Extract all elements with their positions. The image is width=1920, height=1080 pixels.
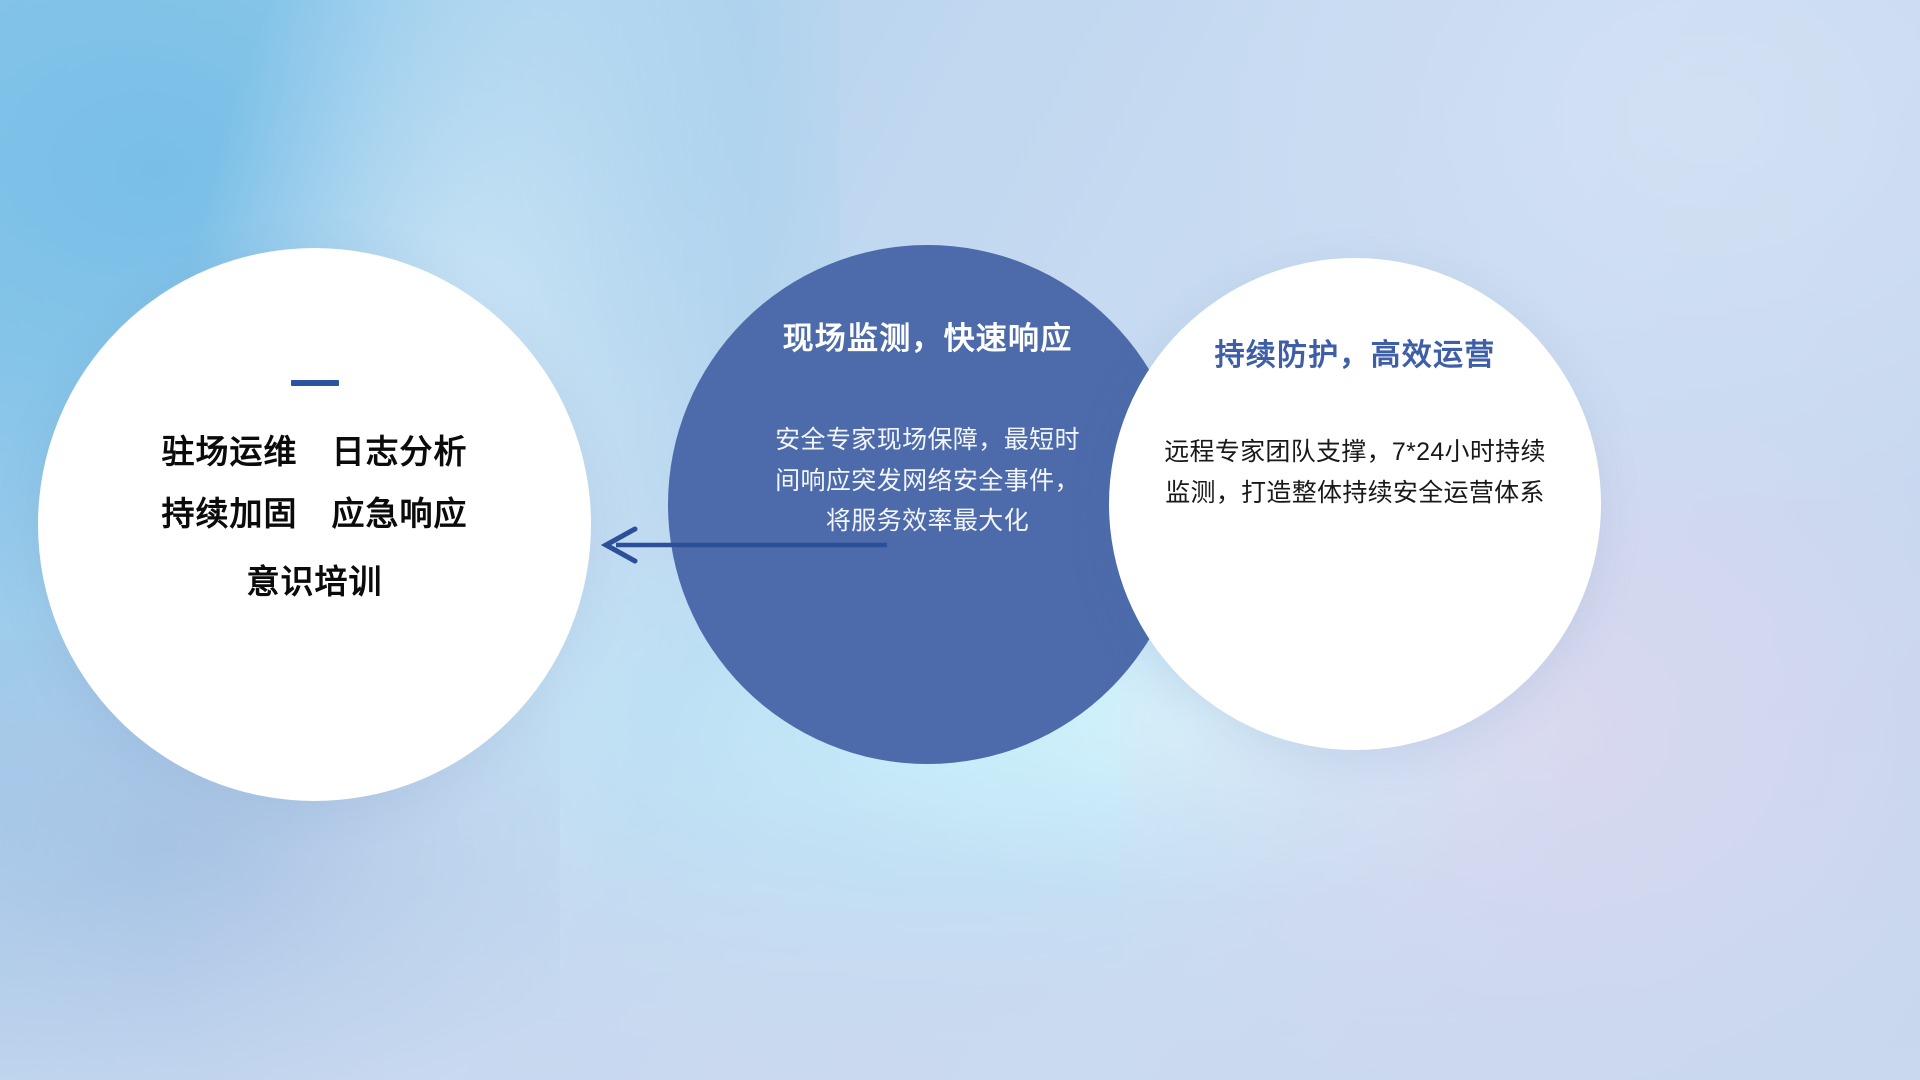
keyword-item[interactable]: 应急响应 (332, 496, 468, 533)
keyword-item[interactable]: 日志分析 (332, 434, 468, 471)
onsite-monitoring-heading: 现场监测，快速响应 (783, 313, 1073, 358)
continuous-defense-heading: 持续防护，高效运营 (1215, 330, 1496, 374)
blue-dash-divider-icon (291, 380, 339, 386)
keyword-item[interactable]: 意识培训 (247, 564, 383, 601)
continuous-defense-body: 远程专家团队支撑，7*24小时持续监测，打造整体持续安全运营体系 (1155, 432, 1555, 513)
keyword-row: 意识培训 (247, 564, 383, 601)
infographic-canvas: 驻场运维 日志分析 持续加固 应急响应 意识培训 现场监测，快速响应 安全专家现… (0, 0, 1920, 1080)
keyword-row: 持续加固 应急响应 (162, 496, 468, 533)
keyword-row: 驻场运维 日志分析 (162, 434, 468, 471)
continuous-defense-content: 持续防护，高效运营 远程专家团队支撑，7*24小时持续监测，打造整体持续安全运营… (1109, 258, 1601, 750)
keyword-item[interactable]: 持续加固 (162, 496, 298, 533)
onsite-monitoring-body: 安全专家现场保障，最短时间响应突发网络安全事件，将服务效率最大化 (770, 420, 1086, 542)
keyword-item[interactable]: 驻场运维 (162, 434, 298, 471)
capabilities-content: 驻场运维 日志分析 持续加固 应急响应 意识培训 (38, 248, 591, 801)
